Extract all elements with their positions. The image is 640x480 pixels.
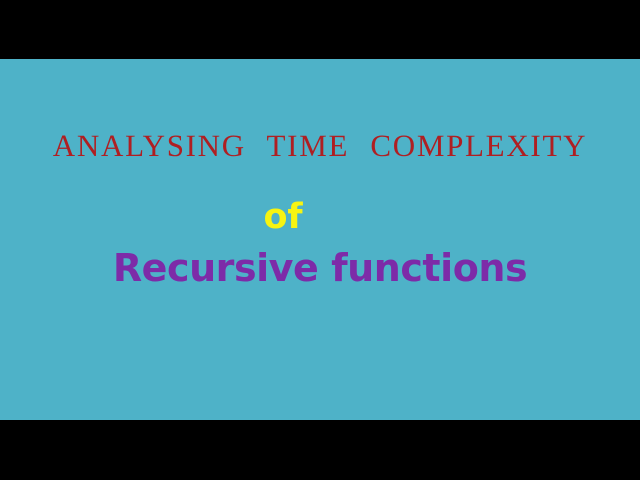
- letterbox-bar-bottom: [0, 420, 640, 480]
- title-slide: ANALYSING TIME COMPLEXITY of Recursive f…: [0, 59, 640, 420]
- title-subject: Recursive functions: [0, 245, 640, 291]
- letterbox-bar-top: [0, 0, 640, 59]
- title-connector-word: of: [0, 197, 566, 237]
- video-frame: ANALYSING TIME COMPLEXITY of Recursive f…: [0, 0, 640, 480]
- page-title: ANALYSING TIME COMPLEXITY: [0, 127, 640, 165]
